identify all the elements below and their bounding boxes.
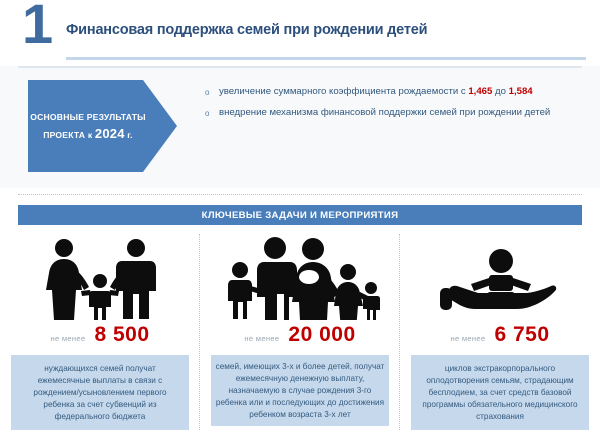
badge-line-2: ПРОЕКТА к 2024 г. [43,126,133,141]
metric-caption: нуждающихся семей получат ежемесячные вы… [11,355,189,430]
metric-qualifier: не менее [244,334,279,343]
badge-year-suffix: г. [127,130,133,140]
metric-value: 20 000 [288,323,355,347]
bullet-marker-icon: o [205,107,219,121]
badge-k-word: к [88,130,93,140]
page-title: Финансовая поддержка семей при рождении … [66,22,427,38]
metric-caption: циклов экстракорпорального оплодотворени… [411,355,589,430]
bullet-text: внедрение механизма финансовой поддержки… [219,107,585,120]
band-top-divider [18,66,582,68]
badge-arrow-head-icon [143,80,177,172]
bullet-text-lead: увеличение суммарного коэффициента рожда… [219,86,468,97]
metric-caption: семей, имеющих 3-х и более детей, получа… [211,355,389,426]
list-item: o увеличение суммарного коэффициента рож… [205,86,585,100]
metric-column-1: не менее 8 500 нуждающихся семей получат… [0,232,200,438]
section-number: 1 [22,0,51,52]
metric-value-row-1: не менее 8 500 [50,323,149,349]
main-results-band: ОСНОВНЫЕ РЕЗУЛЬТАТЫ ПРОЕКТА к 2024 г. o … [0,66,600,188]
main-results-badge: ОСНОВНЫЕ РЕЗУЛЬТАТЫ ПРОЕКТА к 2024 г. [28,80,178,172]
family-three-icon [30,232,170,320]
metric-column-3: не менее 6 750 циклов экстракорпоральног… [400,232,600,438]
bullet-text-middle: до [492,86,508,97]
key-tasks-banner: КЛЮЧЕВЫЕ ЗАДАЧИ И МЕРОПРИЯТИЯ [18,205,582,225]
metric-qualifier: не менее [50,334,85,343]
metric-value-row-3: не менее 6 750 [450,323,549,349]
badge-year: 2024 [95,126,125,141]
section-dotted-divider [18,194,582,195]
page-header: 1 Финансовая поддержка семей при рождени… [0,0,600,62]
bullet-value-to: 1,584 [509,86,533,97]
badge-text: ОСНОВНЫЕ РЕЗУЛЬТАТЫ ПРОЕКТА к 2024 г. [28,80,148,172]
metric-value: 8 500 [94,323,149,347]
metrics-columns: не менее 8 500 нуждающихся семей получат… [0,232,600,438]
bullet-marker-icon: o [205,86,219,100]
hand-holding-baby-icon [435,232,565,320]
bullet-text: увеличение суммарного коэффициента рожда… [219,86,585,99]
badge-line-1: ОСНОВНЫЕ РЕЗУЛЬТАТЫ [30,112,146,122]
metric-value-row-2: не менее 20 000 [244,323,355,349]
metric-value: 6 750 [494,323,549,347]
metric-column-2: не менее 20 000 семей, имеющих 3-х и бол… [200,232,400,438]
bullet-value-from: 1,465 [468,86,492,97]
list-item: o внедрение механизма финансовой поддерж… [205,107,585,121]
header-divider [66,57,586,60]
key-tasks-banner-label: КЛЮЧЕВЫЕ ЗАДАЧИ И МЕРОПРИЯТИЯ [202,210,399,221]
badge-project-word: ПРОЕКТА [43,130,85,140]
results-bullet-list: o увеличение суммарного коэффициента рож… [205,86,585,127]
metric-qualifier: не менее [450,334,485,343]
large-family-icon [220,232,380,320]
